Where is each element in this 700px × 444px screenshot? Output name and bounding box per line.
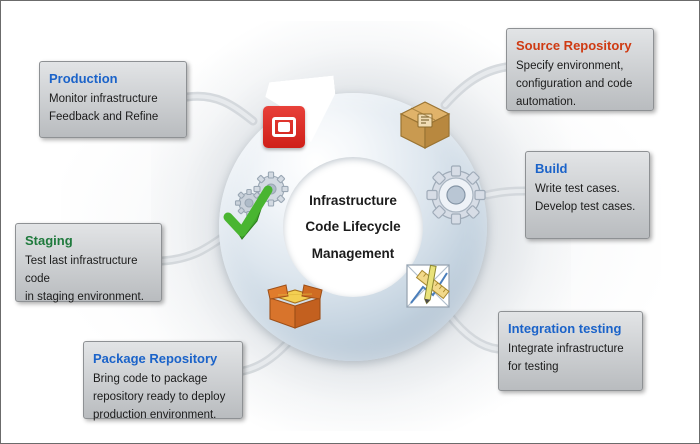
diagram-canvas: Infrastructure Code Lifecycle Management [0,0,700,444]
ruler-chart-icon [401,259,457,315]
callout-integration-testing-title: Integration testing [508,319,633,339]
callout-package-repository-line-2: repository ready to deploy [93,389,233,407]
callout-staging-line-3: in staging environment. [25,289,152,307]
center-line-2: Code Lifecycle [305,219,400,235]
package-box-icon [397,98,453,150]
callout-production-title: Production [49,69,177,89]
callout-package-repository-line-1: Bring code to package [93,371,233,389]
callout-staging[interactable]: Staging Test last infrastructure code in… [15,223,162,302]
green-check-gears-icon [223,169,299,245]
callout-production[interactable]: Production Monitor infrastructure Feedba… [39,61,187,138]
callout-staging-title: Staging [25,231,152,251]
callout-integration-testing-line-1: Integrate infrastructure [508,341,633,359]
open-box-icon [264,276,326,330]
center-line-1: Infrastructure [309,193,397,209]
callout-production-line-2: Feedback and Refine [49,109,177,127]
callout-source-repository-title: Source Repository [516,36,644,56]
callout-source-repository-line-2: configuration and code [516,76,644,94]
callout-package-repository[interactable]: Package Repository Bring code to package… [83,341,243,419]
callout-staging-line-1: Test last infrastructure [25,253,152,271]
callout-integration-testing-line-2: for testing [508,359,633,377]
red-square-logo-icon [263,106,305,148]
callout-build-title: Build [535,159,640,179]
callout-source-repository-line-1: Specify environment, [516,58,644,76]
callout-build[interactable]: Build Write test cases. Develop test cas… [525,151,650,239]
callout-staging-line-2: code [25,271,152,289]
callout-build-line-1: Write test cases. [535,181,640,199]
gear-icon [425,164,487,226]
callout-build-line-2: Develop test cases. [535,199,640,217]
callout-source-repository[interactable]: Source Repository Specify environment, c… [506,28,654,111]
callout-source-repository-line-3: automation. [516,94,644,112]
callout-package-repository-line-3: production environment. [93,407,233,425]
callout-production-line-1: Monitor infrastructure [49,91,177,109]
callout-integration-testing[interactable]: Integration testing Integrate infrastruc… [498,311,643,391]
center-line-3: Management [312,246,395,262]
callout-package-repository-title: Package Repository [93,349,233,369]
